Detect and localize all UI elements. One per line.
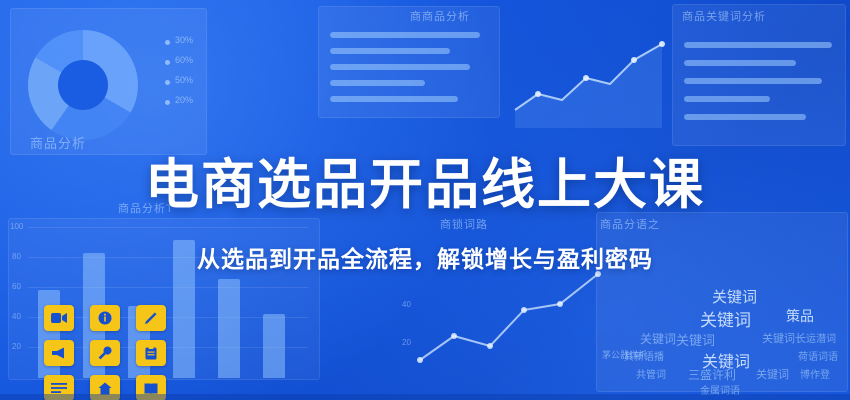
clipboard-icon[interactable] <box>136 340 166 366</box>
top-right-title: 商品关键词分析 <box>682 8 766 24</box>
keyword-4: 策品 <box>786 306 814 326</box>
keyword-13: 共管词 <box>636 366 666 381</box>
bar-5 <box>218 279 240 378</box>
keyword-5: 关键词 <box>676 330 715 349</box>
hbar-r2 <box>684 60 796 66</box>
keyword-8: 三盛许利 <box>688 366 736 383</box>
legend-label-2: 60% <box>175 55 193 65</box>
legend-dot-1 <box>165 40 170 45</box>
keyword-2: 关键词 <box>700 306 751 331</box>
hbar-1 <box>330 32 480 38</box>
bar-6 <box>263 314 285 378</box>
page-title: 电商选品开品线上大课 <box>0 140 850 219</box>
pencil-icon[interactable] <box>136 305 166 331</box>
video-camera-icon[interactable] <box>44 305 74 331</box>
legend-dot-4 <box>165 100 170 105</box>
legend-label-3: 50% <box>175 75 193 85</box>
donut-chart <box>28 30 138 140</box>
hbar-2 <box>330 48 450 54</box>
legend-dot-2 <box>165 60 170 65</box>
keyword-16: 博作登 <box>800 366 830 381</box>
icon-grid <box>44 305 170 400</box>
panel-top-right <box>672 4 846 146</box>
keyword-12: 茅公器详析 <box>602 348 647 361</box>
line-ytick-20: 20 <box>402 338 411 347</box>
poster-canvas: 30% 60% 50% 20% 商品分析 商商品分析 商品关键词分析 商品分析T… <box>0 0 850 400</box>
bar-ytick-100: 100 <box>10 222 23 231</box>
hbar-r4 <box>684 96 770 102</box>
bar-ytick-60: 60 <box>12 282 21 291</box>
keyword-3: 关键词 <box>640 330 676 347</box>
keyword-14: 荷语词语 <box>798 348 838 363</box>
keyword-7: 关键词长 <box>762 330 806 346</box>
hbar-r3 <box>684 78 822 84</box>
hbar-3 <box>330 64 470 70</box>
line-ytick-40: 40 <box>402 300 411 309</box>
bar-ytick-40: 40 <box>12 312 21 321</box>
megaphone-icon[interactable] <box>44 340 74 366</box>
wrench-icon[interactable] <box>90 340 120 366</box>
keyword-9: 关键词 <box>756 366 789 382</box>
keyword-1: 关键词 <box>712 286 757 307</box>
legend-label-4: 20% <box>175 95 193 105</box>
bar-ytick-20: 20 <box>12 342 21 351</box>
hbar-4 <box>330 80 425 86</box>
page-subtitle: 从选品到开品全流程，解锁增长与盈利密码 <box>0 240 850 274</box>
legend-dot-3 <box>165 80 170 85</box>
hbar-panel-title: 商商品分析 <box>410 8 470 24</box>
hbar-5 <box>330 96 458 102</box>
background-line-chart <box>510 18 670 128</box>
info-icon[interactable] <box>90 305 120 331</box>
hbar-r5 <box>684 114 806 120</box>
hbar-r1 <box>684 42 832 48</box>
bottom-stripe <box>0 394 850 400</box>
keyword-15: 运潜词 <box>806 330 836 345</box>
legend-label-1: 30% <box>175 35 193 45</box>
